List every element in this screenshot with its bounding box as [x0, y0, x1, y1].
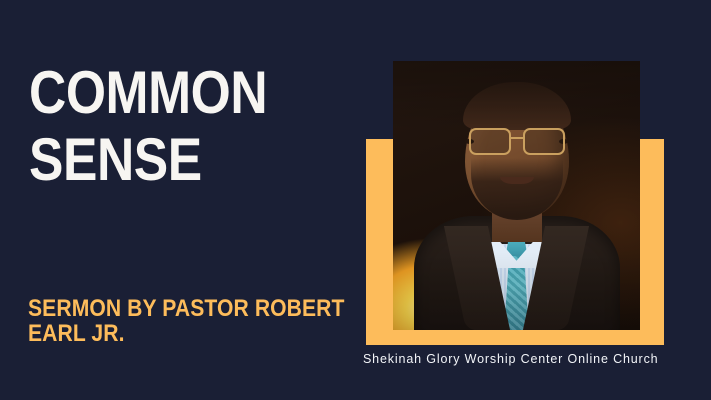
title-line-1: COMMON [29, 64, 313, 123]
church-name-caption: Shekinah Glory Worship Center Online Chu… [363, 352, 658, 366]
eyeglass-lens-left [469, 128, 511, 155]
subtitle-line-1: SERMON BY PASTOR ROBERT [28, 296, 327, 321]
sermon-graphic-canvas: COMMON SENSE SERMON BY PASTOR ROBERT EAR… [0, 0, 711, 400]
speaker-portrait-photo [393, 61, 640, 330]
gold-accent-bar-left [366, 139, 393, 345]
eyeglass-lens-right [523, 128, 565, 155]
title-line-2: SENSE [29, 131, 313, 190]
gold-accent-bar-right [640, 139, 664, 345]
gold-accent-bar-bottom [366, 330, 664, 345]
eyeglass-bridge [509, 137, 525, 139]
sermon-subtitle: SERMON BY PASTOR ROBERT EARL JR. [28, 296, 368, 347]
eyeglasses-icon [467, 128, 567, 152]
subtitle-line-2: EARL JR. [28, 321, 327, 346]
page-title: COMMON SENSE [29, 64, 359, 190]
